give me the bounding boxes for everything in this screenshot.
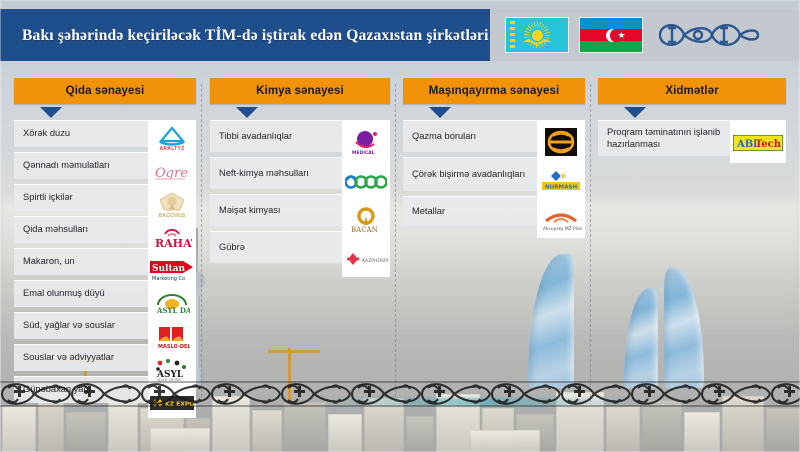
list-item[interactable]: Souslar və ədviyyatlar: [14, 344, 148, 371]
logo-strip-qida: ARALTYZ Ogre BAC: [148, 120, 196, 418]
aksuysky-mz-logo: Aksuysky MZ Plant: [539, 201, 583, 238]
list-qida: Xörək duzu Qənnadı məmulatları Spirtli i…: [14, 120, 148, 418]
list-item[interactable]: Neft-kimya məhsulları: [210, 157, 342, 189]
kazakh-ornament-band-icon: [0, 380, 800, 408]
svg-text:NURMASH: NURMASH: [545, 184, 577, 190]
chevron-down-icon: [40, 107, 62, 118]
list-item[interactable]: Qənnadı məmulatları: [14, 152, 148, 179]
kazakhstan-pipe-logo: [539, 123, 583, 160]
kazakh-koru-ornament-icon: [654, 15, 762, 55]
list-item[interactable]: Gübrə: [210, 231, 342, 263]
list-xidmetler: Proqram təminatının işlənib hazırlanması: [598, 120, 730, 163]
kazphosphate-logo: KAZPHOSPHATE: [344, 240, 388, 277]
column-kimya: Kimya sənayesi Tibbi avadanlıqlar Neft-k…: [210, 78, 390, 277]
list-item[interactable]: Tibbi avadanlıqlar: [210, 120, 342, 152]
svg-text:Tech: Tech: [755, 139, 782, 150]
svg-text:Marketing Co: Marketing Co: [152, 276, 185, 282]
sultan-marketing-logo: Sultan Marketing Co: [150, 255, 194, 286]
column-masinqayirma: Maşınqayırma sənayesi Qazma boruları Çör…: [403, 78, 585, 238]
svg-text:ASYL DAN: ASYL DAN: [156, 306, 190, 315]
list-item[interactable]: Xörək duzu: [14, 120, 148, 147]
sector-columns: Qida sənayesi Xörək duzu Qənnadı məmulat…: [0, 78, 800, 408]
medical-logo: MEDICAL: [344, 123, 388, 160]
column-header-qida[interactable]: Qida sənayesi: [14, 78, 196, 104]
list-item[interactable]: Süd, yağlar və souslar: [14, 312, 148, 339]
ogre-logo: Ogre: [150, 156, 194, 187]
list-item[interactable]: Qazma boruları: [403, 120, 537, 152]
svg-text:KAZPHOSPHATE: KAZPHOSPHATE: [362, 258, 388, 264]
title-bar: Bakı şəhərində keçiriləcək TİM-də iştira…: [0, 9, 800, 61]
logo-strip-kimya: MEDICAL: [342, 120, 390, 277]
list-item[interactable]: Çörək bişirmə avadanlıqları: [403, 157, 537, 191]
column-header-xidmetler[interactable]: Xidmətlər: [598, 78, 786, 104]
araltuz-logo: ARALTYZ: [150, 123, 194, 154]
list-item[interactable]: Qida məhsulları: [14, 216, 148, 243]
list-item[interactable]: Emal olunmuş düyü: [14, 280, 148, 307]
list-item[interactable]: Məişət kimyası: [210, 194, 342, 226]
list-item[interactable]: Makaron, un: [14, 248, 148, 275]
shcc-logo: [344, 162, 388, 199]
chevron-down-icon: [429, 107, 451, 118]
list-item[interactable]: Proqram təminatının işlənib hazırlanması: [598, 120, 730, 156]
list-kimya: Tibbi avadanlıqlar Neft-kimya məhsulları…: [210, 120, 342, 277]
nurmash-logo: NURMASH: [539, 162, 583, 199]
slide-canvas: Bakı şəhərində keçiriləcək TİM-də iştira…: [0, 0, 800, 452]
asyl-dan-logo: ASYL DAN: [150, 288, 194, 319]
svg-text:RAHAT: RAHAT: [155, 237, 192, 249]
logo-strip-xidmetler: ABi Tech: [730, 120, 786, 163]
abi-tech-logo: ABi Tech: [732, 123, 784, 163]
logo-strip-masinqayirma: NURMASH Aksuysky MZ Plant: [537, 120, 585, 238]
column-header-masinqayirma[interactable]: Maşınqayırma sənayesi: [403, 78, 585, 104]
azerbaijan-flag: [580, 18, 642, 52]
chevron-down-icon: [236, 107, 258, 118]
kazakh-ornament-band: [0, 380, 800, 408]
kazakhstan-flag: [506, 18, 568, 52]
chevron-down-icon: [624, 107, 646, 118]
bacan-logo: BACAN: [344, 201, 388, 238]
rahat-logo: RAHAT: [150, 222, 194, 253]
list-item[interactable]: Spirtli içkilər: [14, 184, 148, 211]
page-title: Bakı şəhərində keçiriləcək TİM-də iştira…: [0, 26, 490, 45]
column-header-kimya[interactable]: Kimya sənayesi: [210, 78, 390, 104]
svg-text:BACAN: BACAN: [351, 226, 378, 234]
svg-text:MASLO-DEL: MASLO-DEL: [158, 344, 190, 349]
svg-text:Ogre: Ogre: [155, 166, 188, 180]
bacchus-logo: BACCHUS: [150, 189, 194, 220]
header-flags-area: [490, 9, 800, 61]
list-masinqayirma: Qazma boruları Çörək bişirmə avadanlıqla…: [403, 120, 537, 238]
column-xidmetler: Xidmətlər Proqram təminatının işlənib ha…: [598, 78, 786, 163]
svg-text:Aksuysky MZ Plant: Aksuysky MZ Plant: [543, 226, 582, 231]
maslo-del-logo: MASLO-DEL: [150, 321, 194, 352]
column-qida: Qida sənayesi Xörək duzu Qənnadı məmulat…: [14, 78, 196, 418]
list-item[interactable]: Metallar: [403, 196, 537, 226]
svg-text:Sultan: Sultan: [152, 264, 185, 274]
svg-text:MEDICAL: MEDICAL: [352, 150, 375, 156]
